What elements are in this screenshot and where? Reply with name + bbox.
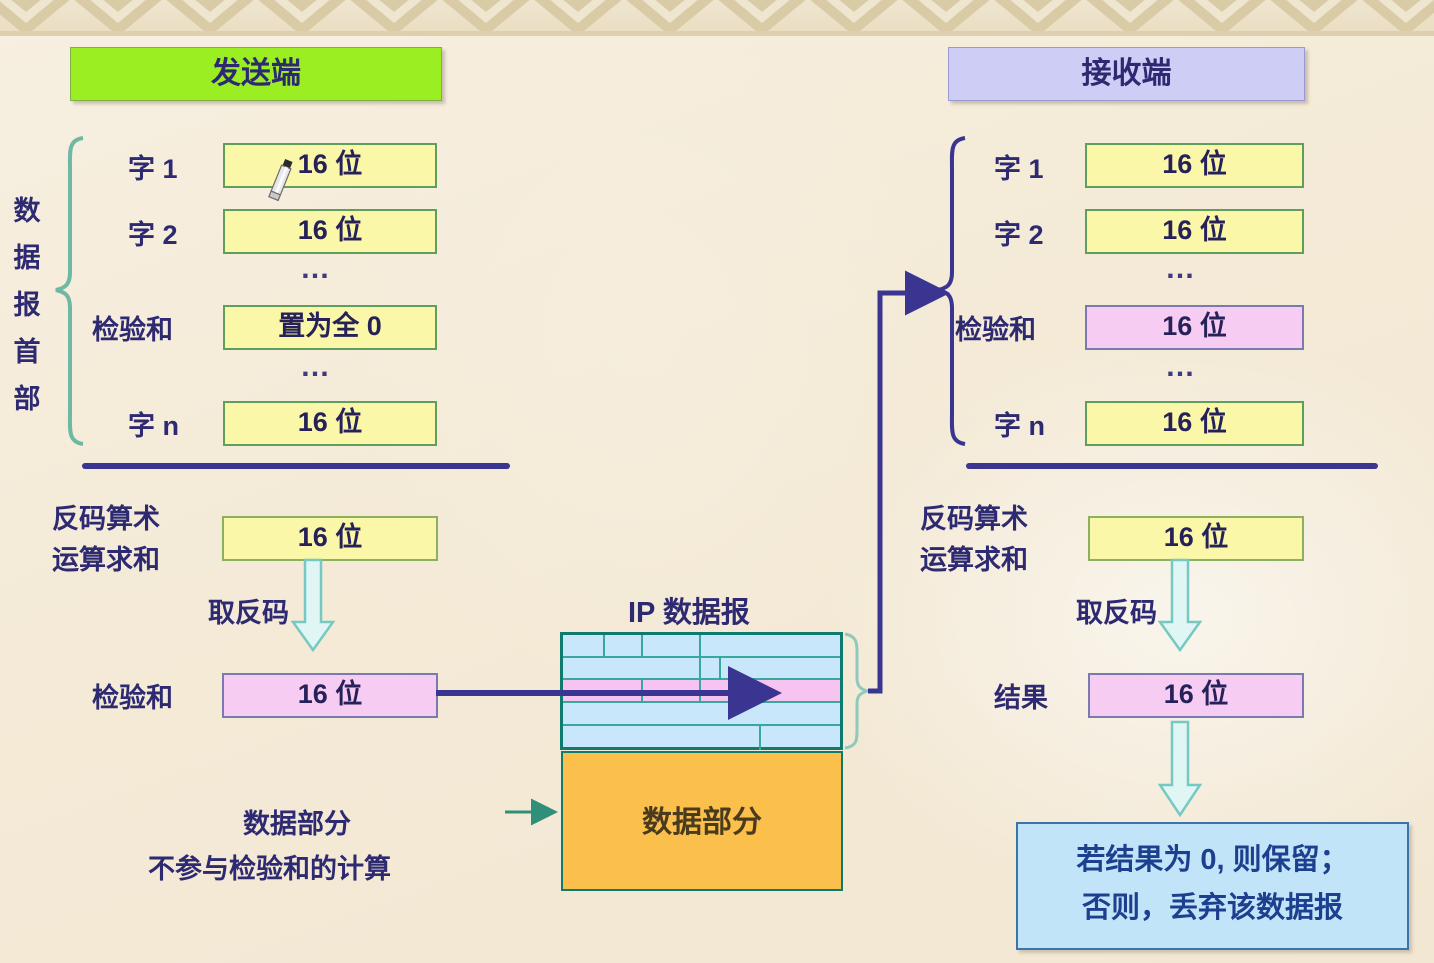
receiver-divider	[966, 463, 1378, 469]
receiver-sum-value: 16 位	[1088, 516, 1304, 561]
sender-note-line2: 不参与检验和的计算	[148, 847, 391, 886]
ip-header-checksum-field	[563, 680, 840, 702]
ip-grid-vline	[641, 678, 643, 701]
receiver-complement-arrow	[1160, 560, 1200, 650]
ip-grid-vline	[699, 635, 701, 678]
ip-grid-vline	[603, 635, 605, 656]
sender-row-2-label: 检验和	[92, 308, 173, 347]
sender-sum-label-line2: 运算求和	[52, 538, 160, 577]
receiver-conclusion-box: 若结果为 0, 则保留； 否则，丢弃该数据报	[1016, 822, 1409, 950]
sender-complement-arrow	[293, 560, 333, 650]
sender-datagram-header-label: 数据报首部	[6, 188, 48, 423]
receiver-sum-label-line2: 运算求和	[920, 538, 1028, 577]
receiver-ellipsis-top: …	[1165, 252, 1198, 286]
receiver-row-1-label: 字 2	[994, 213, 1044, 252]
ip-grid-vline	[719, 656, 721, 678]
ip-grid-vline	[759, 724, 761, 750]
receiver-row-0-label: 字 1	[994, 147, 1044, 186]
receiver-row-2-label: 检验和	[955, 308, 1036, 347]
ip-grid-vline	[699, 678, 701, 701]
ip-header-grid	[560, 632, 843, 750]
sender-row-0-value: 16 位	[223, 143, 437, 188]
sender-row-3-label: 字 n	[128, 404, 179, 443]
sender-header: 发送端	[70, 47, 442, 101]
receiver-row-1-value: 16 位	[1085, 209, 1304, 254]
receiver-row-3-label: 字 n	[994, 404, 1045, 443]
pencil-cursor	[268, 157, 294, 203]
receiver-row-0-value: 16 位	[1085, 143, 1304, 188]
sender-sum-value: 16 位	[222, 516, 438, 561]
ip-grid-hline	[563, 656, 840, 658]
receiver-row-3-value: 16 位	[1085, 401, 1304, 446]
receiver-complement-label: 取反码	[1076, 591, 1157, 630]
ip-grid-hline	[563, 678, 840, 680]
decorative-top-border	[0, 0, 1434, 36]
sender-checksum-label: 检验和	[92, 676, 173, 715]
ip-data-part-box: 数据部分	[561, 751, 843, 891]
sender-ellipsis-top: …	[300, 252, 333, 286]
ip-grid-hline	[563, 701, 840, 703]
slide-canvas: 发送端 接收端 数据报首部 字 1 16 位 字 2 16 位 … 检验和 置为…	[0, 0, 1434, 963]
receiver-ellipsis-bottom: …	[1165, 350, 1198, 384]
receiver-header: 接收端	[948, 47, 1305, 101]
receiver-brace	[938, 138, 965, 444]
receiver-row-2-value: 16 位	[1085, 305, 1304, 350]
ip-grid-vline	[641, 635, 643, 656]
receiver-result-arrow	[1160, 722, 1200, 815]
sender-ellipsis-bottom: …	[300, 350, 333, 384]
sender-divider	[82, 463, 510, 469]
datagram-to-receiver-connector	[868, 293, 940, 691]
receiver-sum-label-line1: 反码算术	[920, 497, 1028, 536]
sender-sum-label-line1: 反码算术	[52, 497, 160, 536]
sender-row-3-value: 16 位	[223, 401, 437, 446]
sender-complement-label: 取反码	[208, 591, 289, 630]
sender-checksum-value: 16 位	[222, 673, 438, 718]
receiver-result-label: 结果	[994, 676, 1048, 715]
sender-row-0-label: 字 1	[128, 147, 178, 186]
sender-note-line1: 数据部分	[243, 802, 351, 841]
sender-row-1-label: 字 2	[128, 213, 178, 252]
sender-row-1-value: 16 位	[223, 209, 437, 254]
ip-header-brace	[845, 634, 867, 748]
conclusion-line-1: 若结果为 0, 则保留；	[1018, 836, 1407, 884]
sender-row-2-value: 置为全 0	[223, 305, 437, 350]
ip-datagram-title: IP 数据报	[628, 589, 750, 631]
ip-grid-hline	[563, 724, 840, 726]
conclusion-line-2: 否则，丢弃该数据报	[1018, 884, 1407, 932]
receiver-result-value: 16 位	[1088, 673, 1304, 718]
sender-brace	[56, 138, 83, 444]
